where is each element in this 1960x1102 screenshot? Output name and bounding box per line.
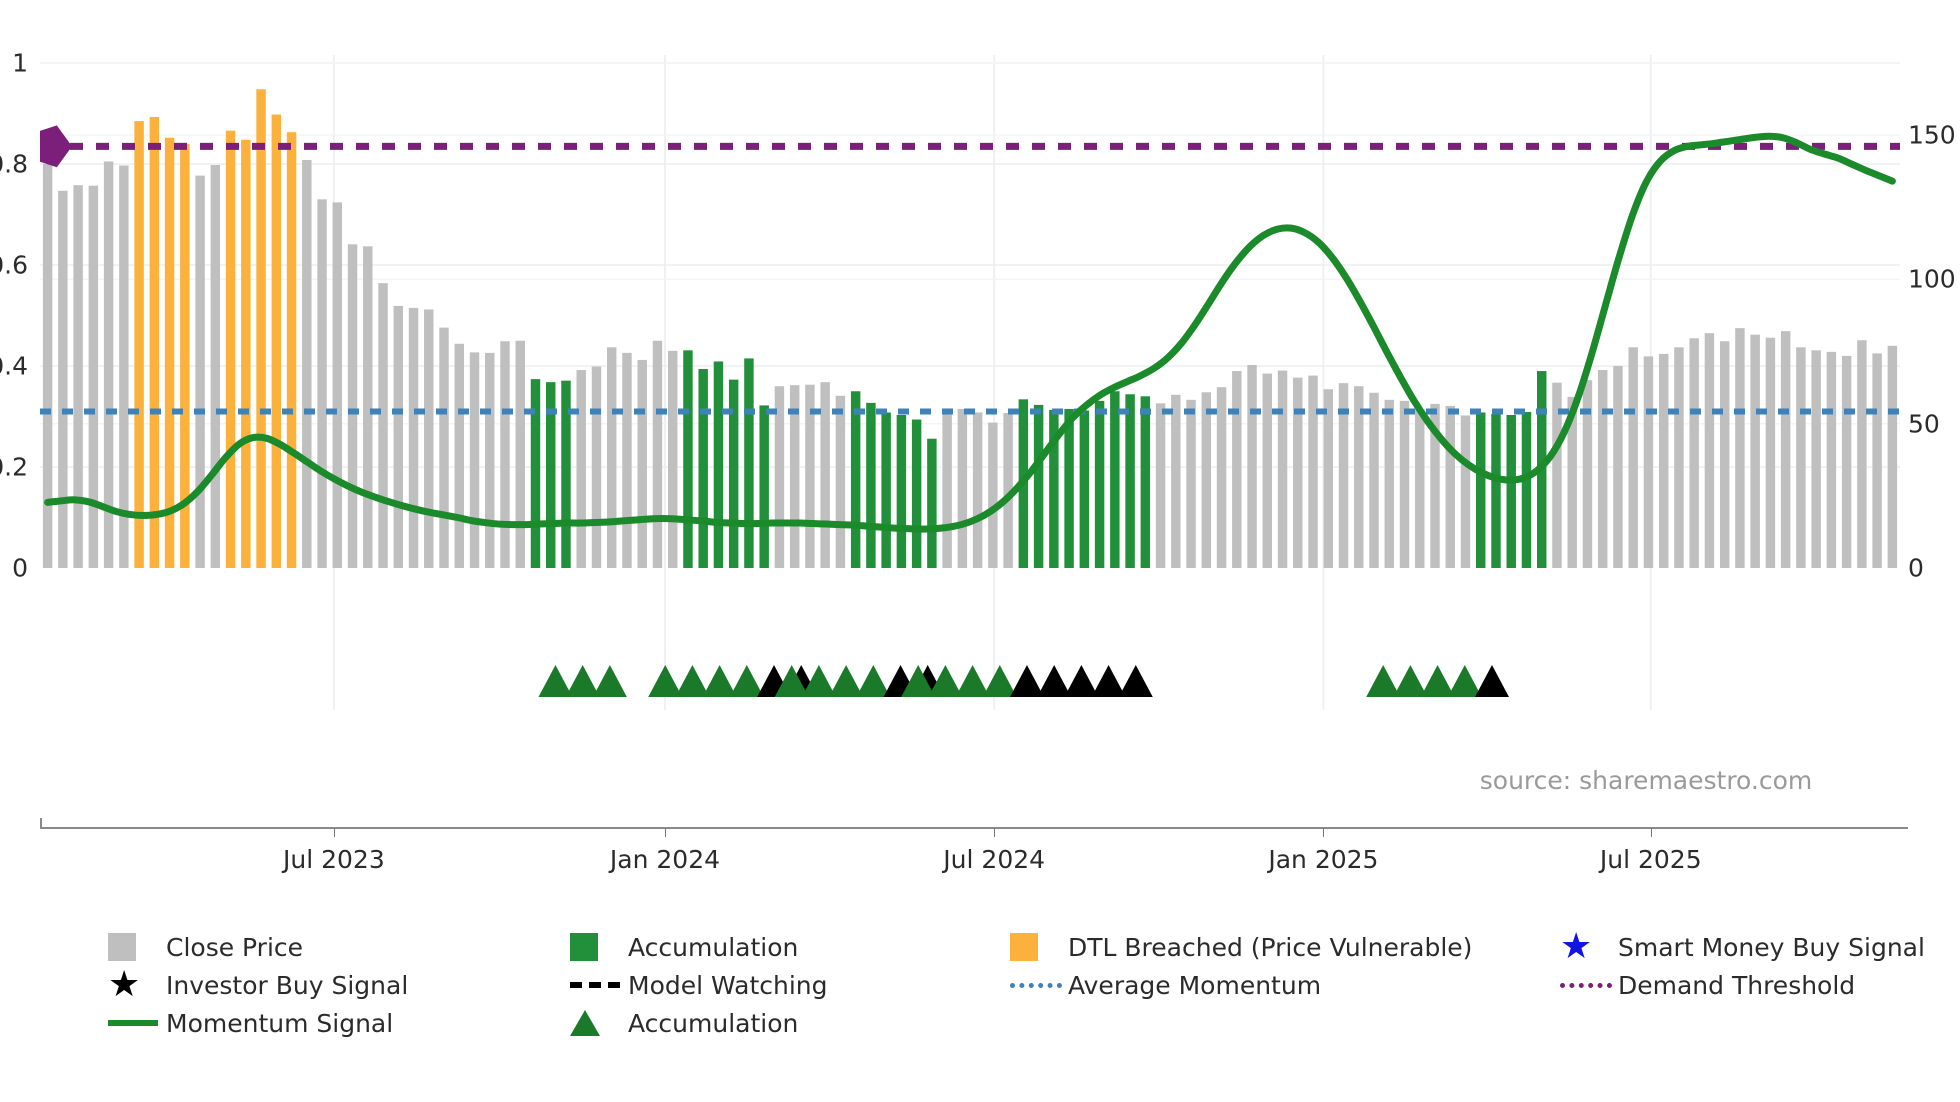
accumulation-triangle-marker xyxy=(648,665,682,697)
y-axis-right-tick: 150 xyxy=(1908,121,1956,150)
bar-grey xyxy=(1628,347,1637,568)
bar-green xyxy=(714,361,723,568)
x-axis-tick-mark xyxy=(665,828,666,837)
bar-orange xyxy=(256,89,265,568)
x-axis-tick-mark xyxy=(1323,828,1324,837)
legend-key-model-watching-icon xyxy=(570,982,628,988)
legend-key-investor-buy-signal-icon: ★ xyxy=(108,972,166,998)
bar-grey xyxy=(607,347,616,568)
legend-key-accumulation-bar-icon xyxy=(570,933,628,961)
chart-root: 10.80.60.40.20 150100500 Jul 2023Jan 202… xyxy=(0,0,1960,1102)
bar-orange xyxy=(241,140,250,568)
demand-threshold-marker xyxy=(40,125,72,167)
bar-green xyxy=(729,380,738,568)
bar-grey xyxy=(1202,392,1211,568)
bar-grey xyxy=(1171,395,1180,568)
x-axis-tick-mark xyxy=(994,828,995,837)
bar-grey xyxy=(302,160,311,568)
accumulation-triangle-marker xyxy=(703,665,737,697)
bar-grey xyxy=(1613,366,1622,568)
y-axis-left-tick: 0.4 xyxy=(0,352,28,381)
bar-grey xyxy=(836,396,845,568)
investor-buy-signal-marker xyxy=(1119,665,1153,697)
bar-grey xyxy=(1750,335,1759,568)
accumulation-triangle-marker xyxy=(675,665,709,697)
bar-orange xyxy=(165,138,174,568)
bar-grey xyxy=(439,328,448,568)
legend-swatch xyxy=(570,1010,600,1036)
legend-swatch xyxy=(1010,933,1038,961)
bar-grey xyxy=(820,382,829,568)
bar-grey xyxy=(592,367,601,569)
bar-grey xyxy=(973,412,982,568)
accumulation-triangle-marker xyxy=(1366,665,1400,697)
accumulation-triangle-marker xyxy=(730,665,764,697)
bar-green xyxy=(851,391,860,568)
x-axis-tick-label: Jul 2025 xyxy=(1600,845,1702,874)
bar-grey xyxy=(1766,338,1775,568)
accumulation-triangle-marker xyxy=(1448,665,1482,697)
legend-item-accumulation-bar[interactable]: Accumulation xyxy=(570,928,1010,966)
bar-orange xyxy=(272,115,281,568)
investor-buy-signal-marker xyxy=(1010,665,1044,697)
legend-label: Demand Threshold xyxy=(1618,971,1855,1000)
accumulation-triangle-marker xyxy=(1421,665,1455,697)
bar-grey xyxy=(1186,400,1195,568)
bar-grey xyxy=(378,283,387,568)
bar-grey xyxy=(485,353,494,568)
bar-grey xyxy=(577,370,586,568)
bar-grey xyxy=(1598,370,1607,568)
bar-orange xyxy=(226,131,235,568)
investor-buy-signal-marker xyxy=(1064,665,1098,697)
legend-label: Close Price xyxy=(166,933,303,962)
bar-orange xyxy=(287,132,296,568)
bar-grey xyxy=(516,341,525,568)
bar-green xyxy=(881,412,890,568)
accumulation-triangle-marker xyxy=(956,665,990,697)
legend-label: Momentum Signal xyxy=(166,1009,393,1038)
legend-label: Smart Money Buy Signal xyxy=(1618,933,1925,962)
bar-green xyxy=(912,420,921,568)
legend-swatch: ★ xyxy=(1560,934,1592,960)
legend-key-demand-threshold-icon xyxy=(1560,983,1618,988)
bar-green xyxy=(759,405,768,568)
bar-grey xyxy=(58,191,67,568)
legend-key-average-momentum-icon xyxy=(1010,983,1068,988)
legend-swatch xyxy=(108,1020,158,1026)
bar-grey xyxy=(1811,350,1820,568)
chart-legend: Close PriceAccumulationDTL Breached (Pri… xyxy=(108,928,1908,1042)
bar-grey xyxy=(1735,328,1744,568)
bar-green xyxy=(1080,410,1089,568)
legend-item-dtl-breached[interactable]: DTL Breached (Price Vulnerable) xyxy=(1010,928,1560,966)
bar-green xyxy=(1507,415,1516,568)
y-axis-right-tick: 0 xyxy=(1908,554,1924,583)
legend-key-momentum-signal-icon xyxy=(108,1020,166,1026)
accumulation-triangle-marker xyxy=(593,665,627,697)
bar-grey xyxy=(1827,352,1836,568)
x-axis-tick-mark xyxy=(334,828,335,837)
y-axis-left-tick: 0.2 xyxy=(0,453,28,482)
bar-orange xyxy=(134,121,143,568)
x-axis-line xyxy=(40,827,1908,829)
bar-grey xyxy=(1659,354,1668,568)
y-axis-left-tick: 0.8 xyxy=(0,150,28,179)
bar-grey xyxy=(211,165,220,568)
bar-green xyxy=(1095,401,1104,568)
bar-grey xyxy=(1446,406,1455,568)
bar-green xyxy=(1034,405,1043,568)
bar-grey xyxy=(1369,393,1378,568)
bar-grey xyxy=(1888,346,1897,568)
accumulation-triangle-marker xyxy=(538,665,572,697)
chart-canvas xyxy=(40,55,1900,710)
bar-grey xyxy=(1217,387,1226,568)
legend-item-demand-threshold[interactable]: Demand Threshold xyxy=(1560,966,1890,1004)
bar-grey xyxy=(622,353,631,568)
source-note: source: sharemaestro.com xyxy=(1480,766,1813,795)
bar-grey xyxy=(1583,380,1592,568)
bar-green xyxy=(531,379,540,568)
legend-item-average-momentum[interactable]: Average Momentum xyxy=(1010,966,1560,1004)
legend-key-smart-money-buy-icon: ★ xyxy=(1560,934,1618,960)
bar-grey xyxy=(1263,374,1272,568)
bar-grey xyxy=(333,202,342,568)
bar-grey xyxy=(988,423,997,568)
legend-swatch xyxy=(1010,983,1062,988)
bar-green xyxy=(866,403,875,568)
legend-key-close-price-icon xyxy=(108,933,166,961)
bar-grey xyxy=(470,352,479,568)
bar-green xyxy=(1064,409,1073,568)
bar-grey xyxy=(958,409,967,568)
x-axis-tick-label: Jan 2024 xyxy=(610,845,720,874)
bar-grey xyxy=(1720,341,1729,568)
bar-grey xyxy=(1705,333,1714,568)
bar-grey xyxy=(394,306,403,568)
accumulation-triangle-marker xyxy=(983,665,1017,697)
y-axis-left-tick: 0.6 xyxy=(0,251,28,280)
bar-orange xyxy=(150,117,159,568)
bar-grey xyxy=(1781,331,1790,568)
bar-grey xyxy=(1842,356,1851,568)
y-axis-right-tick: 50 xyxy=(1908,409,1940,438)
bar-grey xyxy=(1247,365,1256,568)
bar-grey xyxy=(317,199,326,568)
legend-swatch xyxy=(1560,983,1612,988)
x-axis-tick-label: Jul 2024 xyxy=(943,845,1045,874)
bar-grey xyxy=(942,408,951,568)
bar-grey xyxy=(500,341,509,568)
bar-green xyxy=(1491,414,1500,568)
bar-grey xyxy=(1857,340,1866,568)
legend-swatch xyxy=(570,933,598,961)
bar-green xyxy=(698,369,707,568)
accumulation-triangle-marker xyxy=(856,665,890,697)
legend-item-model-watching[interactable]: Model Watching xyxy=(570,966,1010,1004)
legend-label: Model Watching xyxy=(628,971,828,1000)
bar-grey xyxy=(1385,400,1394,568)
bar-grey xyxy=(195,176,204,568)
bar-green xyxy=(1476,412,1485,568)
bar-grey xyxy=(1324,389,1333,568)
accumulation-triangle-marker xyxy=(1393,665,1427,697)
bar-grey xyxy=(1293,378,1302,568)
bar-grey xyxy=(1415,409,1424,568)
bar-green xyxy=(1110,391,1119,568)
bar-grey xyxy=(424,309,433,568)
legend-key-accumulation-marker-icon xyxy=(570,1010,628,1036)
legend-item-close-price[interactable]: Close Price xyxy=(108,928,570,966)
investor-buy-signal-marker xyxy=(1475,665,1509,697)
investor-buy-signal-marker xyxy=(1092,665,1126,697)
legend-item-momentum-signal[interactable]: Momentum Signal xyxy=(108,1004,570,1042)
bar-green xyxy=(1141,396,1150,568)
bar-grey xyxy=(1156,403,1165,568)
bar-grey xyxy=(637,360,646,568)
bar-grey xyxy=(1308,376,1317,568)
legend-label: Average Momentum xyxy=(1068,971,1321,1000)
x-axis-tick-mark xyxy=(1651,828,1652,837)
legend-item-accumulation-marker[interactable]: Accumulation xyxy=(570,1004,1010,1042)
y-axis-left-tick: 1 xyxy=(12,49,28,78)
accumulation-triangle-marker xyxy=(829,665,863,697)
bar-grey xyxy=(89,186,98,568)
bar-grey xyxy=(1232,371,1241,568)
bar-grey xyxy=(1278,371,1287,568)
bar-grey xyxy=(1674,347,1683,568)
legend-label: Accumulation xyxy=(628,933,798,962)
bar-green xyxy=(1125,394,1134,568)
bar-grey xyxy=(1872,353,1881,568)
legend-key-dtl-breached-icon xyxy=(1010,933,1068,961)
bar-grey xyxy=(1689,338,1698,568)
legend-label: Investor Buy Signal xyxy=(166,971,408,1000)
bar-grey xyxy=(1461,415,1470,568)
legend-label: Accumulation xyxy=(628,1009,798,1038)
legend-swatch: ★ xyxy=(108,972,140,998)
bar-grey xyxy=(348,244,357,568)
bar-green xyxy=(927,439,936,568)
legend-item-smart-money-buy[interactable]: ★Smart Money Buy Signal xyxy=(1560,928,1890,966)
bar-grey xyxy=(409,308,418,568)
legend-swatch xyxy=(108,933,136,961)
bar-green xyxy=(1522,412,1531,568)
bar-grey xyxy=(1644,356,1653,568)
y-axis-right-tick: 100 xyxy=(1908,265,1956,294)
bar-grey xyxy=(668,351,677,568)
bar-green xyxy=(744,358,753,568)
bar-grey xyxy=(363,246,372,568)
bar-grey xyxy=(1400,401,1409,568)
bar-grey xyxy=(653,341,662,568)
legend-swatch xyxy=(570,982,620,988)
accumulation-triangle-marker xyxy=(566,665,600,697)
bar-grey xyxy=(43,164,52,568)
bar-grey xyxy=(73,185,82,568)
bar-grey xyxy=(455,344,464,568)
x-axis-tick-label: Jul 2023 xyxy=(283,845,385,874)
investor-buy-signal-marker xyxy=(1037,665,1071,697)
legend-item-investor-buy-signal[interactable]: ★Investor Buy Signal xyxy=(108,966,570,1004)
bar-grey xyxy=(119,166,128,568)
plot-area xyxy=(40,55,1900,710)
y-axis-left-tick: 0 xyxy=(12,554,28,583)
bar-grey xyxy=(1796,347,1805,568)
x-axis-left-cap xyxy=(40,818,42,829)
bar-green xyxy=(897,415,906,568)
x-axis-tick-label: Jan 2025 xyxy=(1268,845,1378,874)
legend-label: DTL Breached (Price Vulnerable) xyxy=(1068,933,1472,962)
bar-green xyxy=(683,350,692,568)
